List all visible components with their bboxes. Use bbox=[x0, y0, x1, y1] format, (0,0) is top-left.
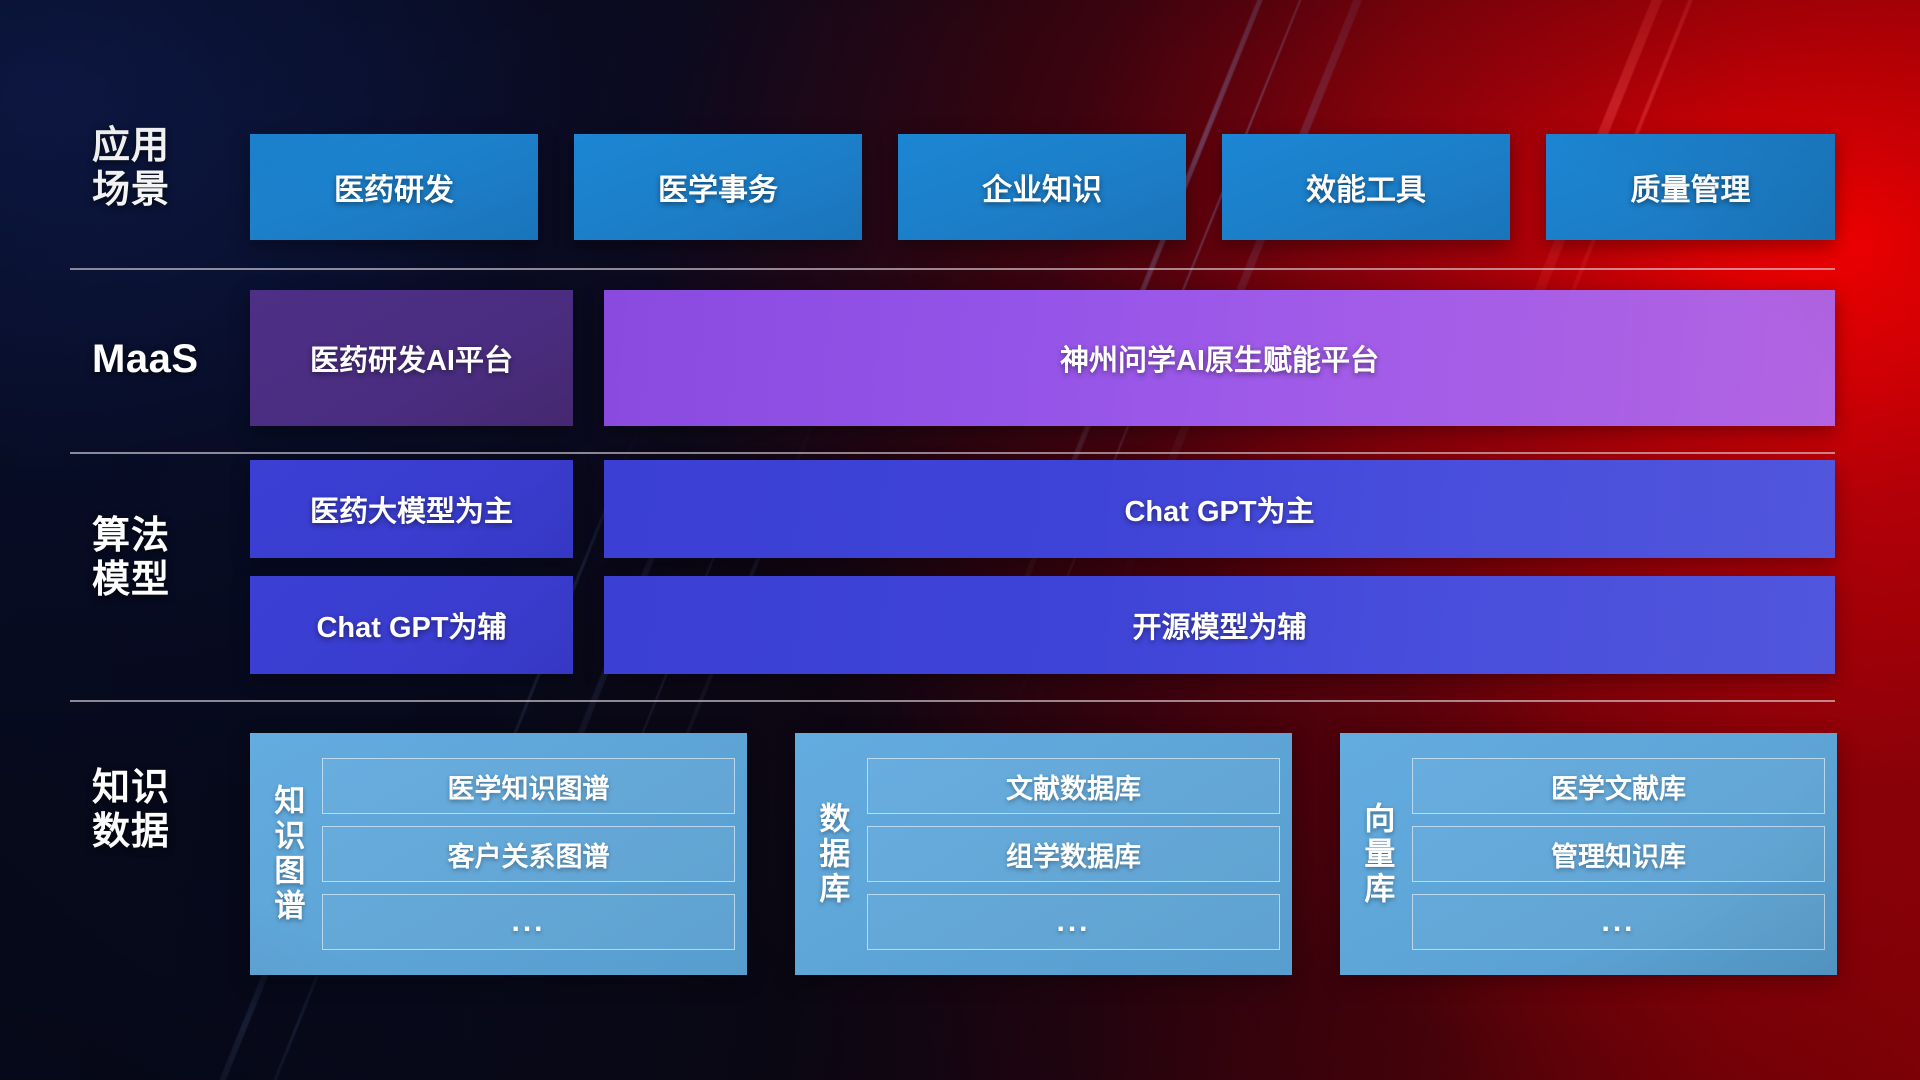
scenario-card-5[interactable]: 质量管理 bbox=[1546, 134, 1835, 240]
row-label-algorithm-line2: 模型 bbox=[92, 558, 242, 602]
row-label-knowledge-line2: 数据 bbox=[92, 810, 242, 854]
algorithm-card-secondary-chatgpt[interactable]: Chat GPT为辅 bbox=[250, 576, 573, 674]
knowledge-group-title: 知识图谱 bbox=[250, 743, 322, 965]
knowledge-group-items: 医学文献库 管理知识库 ... bbox=[1412, 743, 1825, 965]
knowledge-item[interactable]: 组学数据库 bbox=[867, 826, 1280, 882]
row-separator-3 bbox=[70, 700, 1835, 702]
row-label-algorithm-line1: 算法 bbox=[92, 514, 242, 558]
knowledge-group-database[interactable]: 数据库 文献数据库 组学数据库 ... bbox=[795, 733, 1292, 975]
row-label-scenarios: 应用 场景 bbox=[92, 124, 242, 212]
knowledge-item[interactable]: 医学知识图谱 bbox=[322, 758, 735, 814]
row-separator-2 bbox=[70, 452, 1835, 454]
knowledge-item-more[interactable]: ... bbox=[322, 894, 735, 950]
scenario-card-3[interactable]: 企业知识 bbox=[898, 134, 1186, 240]
row-label-knowledge: 知识 数据 bbox=[92, 766, 242, 854]
row-label-scenarios-line2: 场景 bbox=[92, 168, 242, 212]
knowledge-group-items: 医学知识图谱 客户关系图谱 ... bbox=[322, 743, 735, 965]
knowledge-group-knowledge-graph[interactable]: 知识图谱 医学知识图谱 客户关系图谱 ... bbox=[250, 733, 747, 975]
knowledge-group-vector-store[interactable]: 向量库 医学文献库 管理知识库 ... bbox=[1340, 733, 1837, 975]
maas-card-shenzhou-wenxue-platform[interactable]: 神州问学AI原生赋能平台 bbox=[604, 290, 1835, 426]
knowledge-item[interactable]: 文献数据库 bbox=[867, 758, 1280, 814]
algorithm-card-primary-domain-model[interactable]: 医药大模型为主 bbox=[250, 460, 573, 558]
row-label-scenarios-line1: 应用 bbox=[92, 124, 242, 168]
algorithm-card-primary-chatgpt[interactable]: Chat GPT为主 bbox=[604, 460, 1835, 558]
scenario-card-2[interactable]: 医学事务 bbox=[574, 134, 862, 240]
knowledge-item-more[interactable]: ... bbox=[867, 894, 1280, 950]
maas-card-drug-rd-ai-platform[interactable]: 医药研发AI平台 bbox=[250, 290, 573, 426]
row-label-algorithm: 算法 模型 bbox=[92, 514, 242, 602]
knowledge-group-items: 文献数据库 组学数据库 ... bbox=[867, 743, 1280, 965]
knowledge-item-more[interactable]: ... bbox=[1412, 894, 1825, 950]
row-separator-1 bbox=[70, 268, 1835, 270]
row-label-maas-text: MaaS bbox=[92, 336, 242, 382]
knowledge-item[interactable]: 管理知识库 bbox=[1412, 826, 1825, 882]
knowledge-group-title: 数据库 bbox=[795, 743, 867, 965]
architecture-diagram-slide: 应用 场景 医药研发 医学事务 企业知识 效能工具 质量管理 MaaS 医药研发… bbox=[0, 0, 1920, 1080]
algorithm-card-secondary-opensource[interactable]: 开源模型为辅 bbox=[604, 576, 1835, 674]
knowledge-item[interactable]: 客户关系图谱 bbox=[322, 826, 735, 882]
knowledge-item[interactable]: 医学文献库 bbox=[1412, 758, 1825, 814]
scenario-card-4[interactable]: 效能工具 bbox=[1222, 134, 1510, 240]
knowledge-group-title: 向量库 bbox=[1340, 743, 1412, 965]
row-label-maas: MaaS bbox=[92, 336, 242, 382]
row-label-knowledge-line1: 知识 bbox=[92, 766, 242, 810]
scenario-card-1[interactable]: 医药研发 bbox=[250, 134, 538, 240]
